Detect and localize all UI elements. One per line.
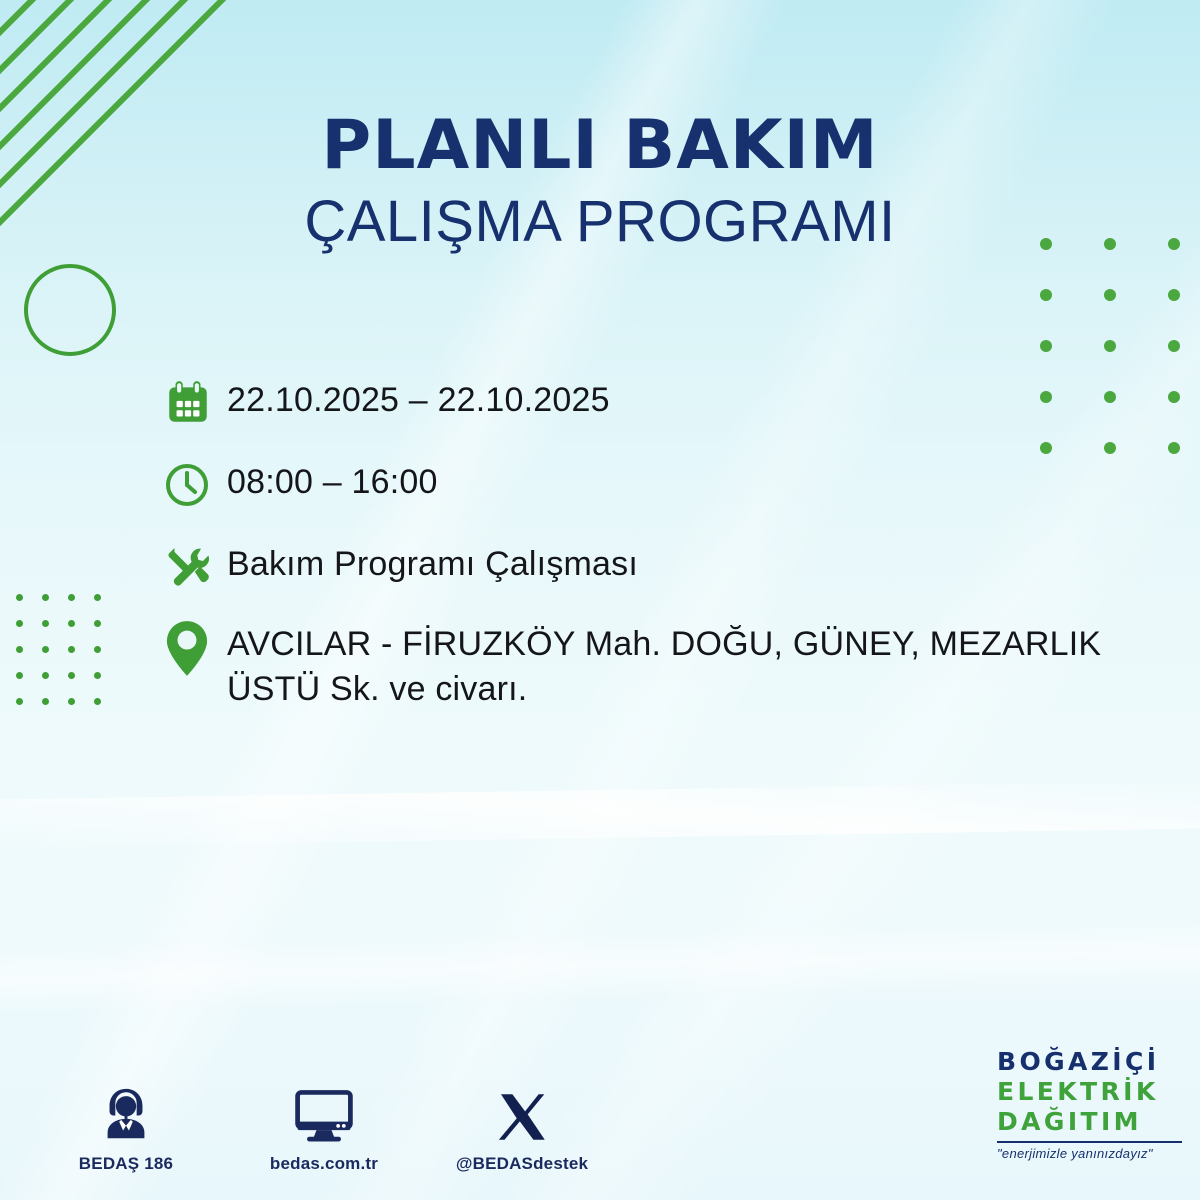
x-logo-icon (452, 1071, 592, 1145)
contact-channels: BEDAŞ 186 bedas.com.tr (56, 1071, 592, 1174)
brand-line-elektrik: ELEKTRİK (997, 1079, 1182, 1104)
detail-work-type: Bakım Programı Çalışması (227, 538, 638, 587)
contact-call-center[interactable]: BEDAŞ 186 (56, 1071, 196, 1174)
detail-row-date: 22.10.2025 – 22.10.2025 (163, 374, 1173, 432)
contact-call-center-label: BEDAŞ 186 (56, 1154, 196, 1174)
contact-website[interactable]: bedas.com.tr (254, 1071, 394, 1174)
footer: BEDAŞ 186 bedas.com.tr (0, 1044, 1200, 1174)
detail-row-time: 08:00 – 16:00 (163, 456, 1173, 514)
monitor-icon (254, 1071, 394, 1145)
contact-social-x-label: @BEDASdestek (452, 1154, 592, 1174)
background-wave-line-secondary (0, 915, 1200, 1015)
detail-location-address: AVCILAR - FİRUZKÖY Mah. DOĞU, GÜNEY, MEZ… (227, 620, 1173, 712)
brand-tagline: "enerjimizle yanınızdayız" (997, 1147, 1182, 1160)
detail-date-range: 22.10.2025 – 22.10.2025 (227, 374, 610, 423)
bedas-logo: BOĞAZİÇİ ELEKTRİK DAĞITIM "enerjimizle y… (997, 1049, 1182, 1160)
maintenance-details-list: 22.10.2025 – 22.10.2025 08:00 – 16:00 (163, 374, 1173, 736)
tools-icon (163, 538, 227, 596)
background-wave-line (0, 780, 1200, 849)
planned-maintenance-poster: PLANLI BAKIM ÇALIŞMA PROGRAMI (0, 0, 1200, 1200)
clock-icon (163, 456, 227, 514)
dot-grid-left-decoration (16, 594, 120, 724)
detail-row-worktype: Bakım Programı Çalışması (163, 538, 1173, 596)
calendar-icon (163, 374, 227, 432)
detail-row-location: AVCILAR - FİRUZKÖY Mah. DOĞU, GÜNEY, MEZ… (163, 620, 1173, 712)
headset-operator-icon (56, 1071, 196, 1145)
brand-line-dagitim: DAĞITIM (997, 1109, 1182, 1134)
brand-line-bogazici: BOĞAZİÇİ (997, 1049, 1182, 1074)
detail-time-range: 08:00 – 16:00 (227, 456, 438, 505)
contact-website-label: bedas.com.tr (254, 1154, 394, 1174)
circle-outline-decoration (24, 264, 116, 356)
location-pin-icon (163, 620, 227, 678)
page-title: PLANLI BAKIM ÇALIŞMA PROGRAMI (0, 112, 1200, 256)
headline-primary: PLANLI BAKIM (0, 112, 1200, 180)
contact-social-x[interactable]: @BEDASdestek (452, 1071, 592, 1174)
brand-divider (997, 1141, 1182, 1143)
headline-secondary: ÇALIŞMA PROGRAMI (0, 188, 1200, 256)
